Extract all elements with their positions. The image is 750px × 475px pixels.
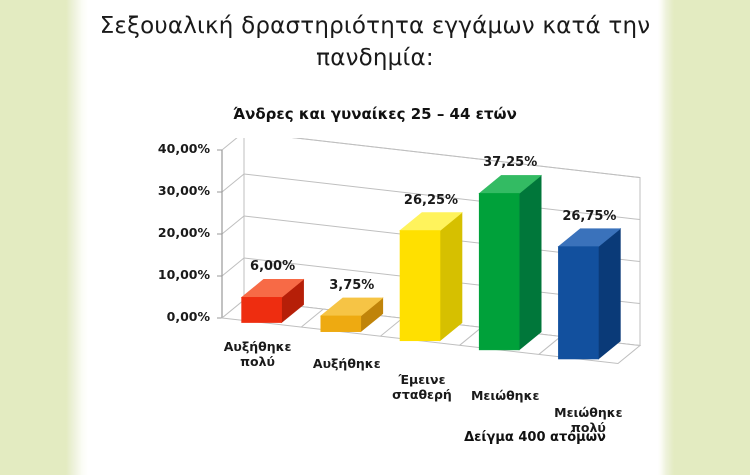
bar-value-label-2: 3,75% [307,278,397,293]
bar-value-label-1: 6,00% [228,259,318,274]
x-axis-category-2: Αυξήθηκε [299,356,395,371]
y-axis-tick-10: 10,00% [140,267,210,282]
bar-5[interactable] [558,229,620,359]
left-decor-band [0,0,88,475]
page-title: Σεξουαλική δραστηριότητα εγγάμων κατά τη… [95,10,655,74]
y-axis-tick-30: 30,00% [140,183,210,198]
x-axis-category-1: Αυξήθηκε πολύ [210,339,306,369]
x-axis-category-4: Μειώθηκε [457,388,553,403]
bar-value-label-5: 26,75% [544,209,634,224]
x-axis-category-3: Έμεινε σταθερή [374,372,470,402]
bar-3[interactable] [400,213,462,341]
bar-value-label-4: 37,25% [465,155,555,170]
sample-size-note: Δείγμα 400 ατόμων [420,430,650,445]
y-axis-tick-0: 0,00% [140,309,210,324]
slide-canvas: Σεξουαλική δραστηριότητα εγγάμων κατά τη… [0,0,750,475]
bar-value-label-3: 26,25% [386,193,476,208]
bar-chart-3d: 0,00%10,00%20,00%30,00%40,00%6,00%3,75%2… [150,138,650,428]
y-axis-tick-40: 40,00% [140,141,210,156]
right-decor-band [658,0,750,475]
y-axis-tick-20: 20,00% [140,225,210,240]
chart-subtitle: Άνδρες και γυναίκες 25 – 44 ετών [175,105,575,123]
bar-4[interactable] [479,175,541,349]
